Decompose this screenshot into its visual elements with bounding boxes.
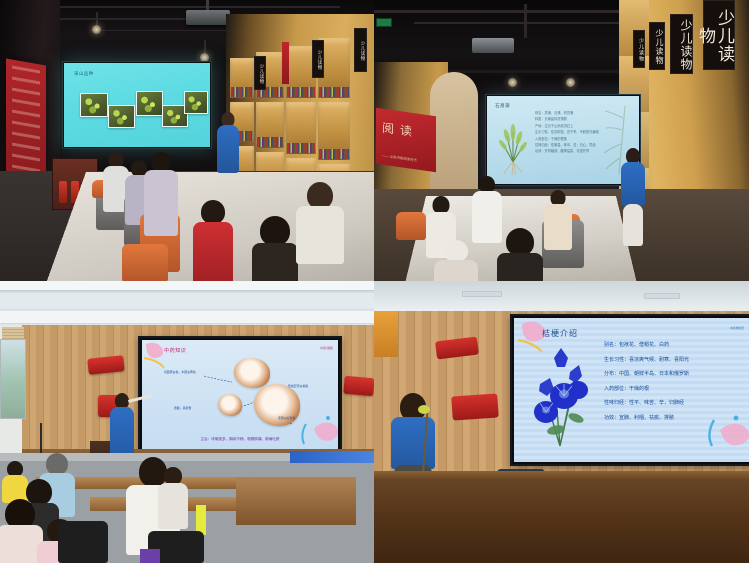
slide-label: 皮部淡红棕色	[278, 416, 295, 420]
slide-title: 石菖蒲	[495, 103, 510, 109]
child-seated	[500, 228, 540, 281]
ceiling-panel	[0, 311, 374, 323]
wall-plaque	[343, 376, 374, 397]
slide-photo	[80, 93, 108, 117]
pointer-tip	[418, 405, 430, 414]
books	[319, 149, 349, 159]
slide-text-block: 别名：包袱花、僧帽花、白药 生长习性：喜凉爽气候、耐寒、喜阳光 分布：中国、朝鲜…	[604, 338, 748, 426]
chair	[58, 521, 108, 563]
stage-decor-blue	[290, 451, 374, 463]
root-cross-section	[234, 358, 270, 388]
child-seated	[256, 216, 294, 281]
slide-title: 桔梗介绍	[542, 328, 578, 339]
slide-line: 分布：中国、朝鲜半岛、日本和俄罗斯	[604, 367, 748, 382]
desk	[236, 477, 356, 525]
shelf-cell	[318, 102, 350, 160]
slide-label: 质脆，易折断	[174, 406, 191, 410]
projection-screen: 石菖蒲	[485, 94, 641, 186]
spotlight	[92, 25, 101, 34]
books	[257, 137, 283, 147]
photo-collage-grid: 少儿读物 少儿读物 少儿读物 采山品种	[0, 0, 749, 563]
counter-top	[374, 471, 749, 479]
chair	[122, 244, 168, 281]
slide-content: 桔梗介绍 中药材科普	[514, 318, 749, 462]
slide-title: 采山品种	[74, 71, 94, 77]
child-seated	[300, 182, 340, 262]
slide-photo	[136, 91, 163, 116]
projector	[472, 38, 514, 53]
display-screen: 中药知识 中药材图鉴 切面黄白色，木部淡黄色 形成层环淡褐色	[138, 336, 342, 455]
herb-illustration	[495, 118, 531, 176]
display-screen: 桔梗介绍 中药材科普	[510, 314, 749, 466]
slide-line: 功效：宣肺、利咽、祛痰、排脓	[604, 411, 748, 426]
shelf-sign: 少儿读物	[670, 14, 693, 74]
slide-footer: 主治：咳嗽痰多、胸闷不畅、咽喉肿痛、肺痈吐脓	[200, 437, 279, 442]
slide-label: 形成层环淡褐色	[288, 384, 308, 388]
banner-subtitle: —— 点亮书香阅读时光	[382, 153, 417, 163]
photo-panel-top-left: 少儿读物 少儿读物 少儿读物 采山品种	[0, 0, 374, 281]
red-shelf-ribbon	[282, 42, 289, 84]
exit-sign	[376, 18, 392, 27]
audience-member	[160, 467, 186, 527]
shelf-sign-large: 少儿读物	[703, 0, 735, 70]
slide-line: 生长习性：喜凉爽气候、耐寒、喜阳光	[604, 353, 748, 368]
slide-content: 采山品种	[64, 63, 210, 147]
slide-photo	[108, 105, 135, 128]
shelf-cell	[230, 58, 254, 98]
spotlight-stem	[96, 12, 98, 26]
shelf-cell	[286, 102, 316, 154]
shelf-sign: 少儿读物	[649, 22, 665, 70]
audience-member	[0, 499, 40, 563]
books	[231, 87, 253, 97]
ceiling-beam	[40, 6, 340, 8]
projector	[186, 10, 230, 25]
podium-counter	[374, 471, 749, 563]
child-seated	[436, 240, 476, 281]
slide-text-block: 别名：菖蒲、石蒲、药菖蒲 科属：天南星科菖蒲属 产地：生长于山涧泉流石上 生长习…	[535, 110, 631, 155]
shelf-sign: 少儿读物	[254, 56, 266, 90]
child-seated	[196, 200, 230, 281]
slide-line: 性味归经：性平、味苦、辛，归肺经	[604, 396, 748, 411]
slide-content: 石菖蒲	[487, 96, 639, 184]
slide-line: 功效：开窍豁痰、醒神益智、化湿开胃	[535, 148, 631, 154]
wall-plaque	[451, 393, 499, 420]
flower-illustration	[526, 340, 598, 452]
shelf-sign: 少儿读物	[354, 28, 367, 72]
presenter	[620, 148, 646, 244]
projection-screen: 采山品种	[62, 61, 212, 149]
ceiling-panel	[0, 293, 374, 309]
slide-corner-note: 中药材科普	[730, 326, 744, 330]
window	[0, 339, 26, 419]
arched-partition	[430, 72, 478, 200]
shelf-sign: 少儿读物	[312, 40, 324, 78]
ceiling-vent	[644, 293, 680, 299]
chair	[396, 212, 426, 240]
books	[287, 87, 315, 97]
shelf-sign: 少儿读物	[633, 30, 645, 68]
fire-extinguisher	[59, 181, 67, 203]
slide-line: 入药部位：干燥的根	[604, 382, 748, 397]
root-cross-section	[218, 394, 242, 416]
child-seated	[146, 152, 176, 232]
presenter	[216, 112, 240, 174]
ceiling-pipe	[524, 4, 527, 38]
slide-label: 切面黄白色，木部淡黄色	[164, 370, 196, 374]
spotlight	[508, 78, 517, 87]
books	[287, 143, 315, 153]
books	[319, 87, 349, 97]
child-seated	[474, 176, 500, 242]
photo-panel-bottom-right: 桔梗介绍 中药材科普	[374, 281, 749, 563]
photo-panel-top-right: 少儿读物 少儿读物 少儿读物 少儿读物 阅读 —— 点亮书香阅读时光 石菖蒲	[374, 0, 749, 281]
slide-photo	[184, 91, 208, 114]
spotlight-stem	[204, 40, 206, 54]
reading-banner: 阅读 —— 点亮书香阅读时光	[376, 108, 436, 172]
spotlight	[566, 78, 575, 87]
slide-content: 中药知识 中药材图鉴 切面黄白色，木部淡黄色 形成层环淡褐色	[142, 340, 338, 451]
ceiling	[374, 281, 749, 315]
purple-item	[140, 549, 160, 563]
banner-title: 阅读	[382, 119, 418, 141]
photo-panel-bottom-left: 中药知识 中药材图鉴 切面黄白色，木部淡黄色 形成层环淡褐色	[0, 281, 374, 563]
slide-decoration	[142, 340, 338, 451]
slide-line: 别名：包袱花、僧帽花、白药	[604, 338, 748, 353]
shelf-cell	[256, 102, 284, 148]
wall-accent	[374, 311, 398, 357]
child-seated	[546, 190, 570, 248]
ceiling-panel	[0, 281, 374, 290]
ceiling-vent	[462, 291, 502, 297]
